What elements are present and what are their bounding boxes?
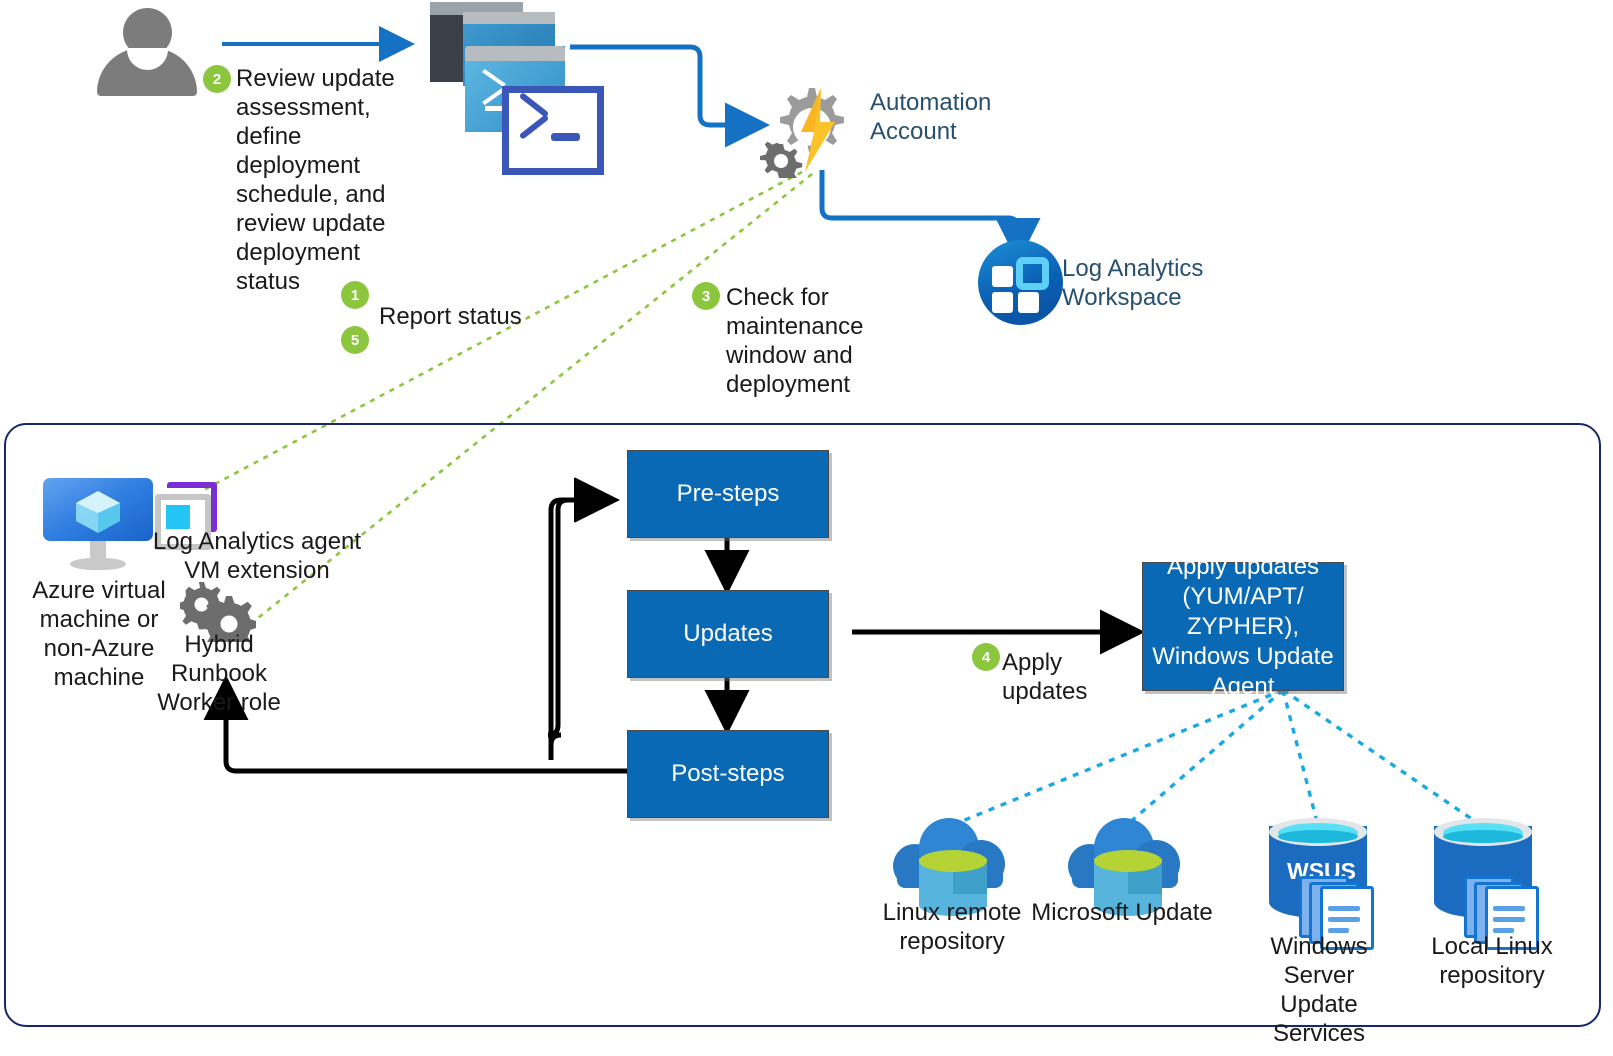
automation-account-icon [757, 82, 862, 178]
arrow-automation-to-workspace [822, 170, 1018, 248]
log-analytics-workspace-icon [978, 240, 1063, 325]
report-status-text: Report status [379, 302, 579, 331]
azure-virtual-machine-icon [43, 478, 153, 570]
local-linux-repository-label: Local Linux repository [1412, 932, 1572, 990]
apply-updates-box[interactable]: Apply updates (YUM/APT/ ZYPHER), Windows… [1142, 562, 1344, 691]
step-2-text: Review update assessment, define deploym… [236, 64, 416, 296]
automation-account-label: Automation Account [870, 88, 1070, 146]
wsus-label: Windows Server Update Services [1236, 932, 1402, 1048]
log-analytics-agent-label: Log Analytics agent VM extension [152, 527, 362, 585]
process-box-updates[interactable]: Updates [627, 590, 829, 678]
process-box-pre-steps[interactable]: Pre-steps [627, 450, 829, 538]
diagram-canvas: Automation Account Log Analytics Workspa… [0, 0, 1613, 1056]
microsoft-update-label: Microsoft Update [1030, 898, 1214, 927]
hybrid-runbook-worker-label: Hybrid Runbook Worker role [146, 630, 292, 717]
step-badge-2: 2 [203, 65, 231, 93]
azure-portal-powershell-icon [425, 2, 590, 174]
log-analytics-workspace-label: Log Analytics Workspace [1062, 254, 1282, 312]
apply-updates-step-text: Apply updates [1002, 648, 1122, 706]
step-3-text: Check for maintenance window and deploym… [726, 283, 906, 399]
step-badge-5: 5 [341, 326, 369, 354]
step-badge-4: 4 [972, 643, 1000, 671]
linux-remote-repository-label: Linux remote repository [872, 898, 1032, 956]
step-badge-1: 1 [341, 281, 369, 309]
process-box-post-steps[interactable]: Post-steps [627, 730, 829, 818]
microsoft-update-icon [1068, 808, 1186, 903]
wsus-icon: WSUS [1265, 818, 1387, 938]
local-linux-repository-icon [1430, 818, 1552, 938]
step-badge-3: 3 [692, 282, 720, 310]
linux-remote-repository-icon [893, 808, 1011, 903]
administrator-icon [97, 8, 197, 96]
